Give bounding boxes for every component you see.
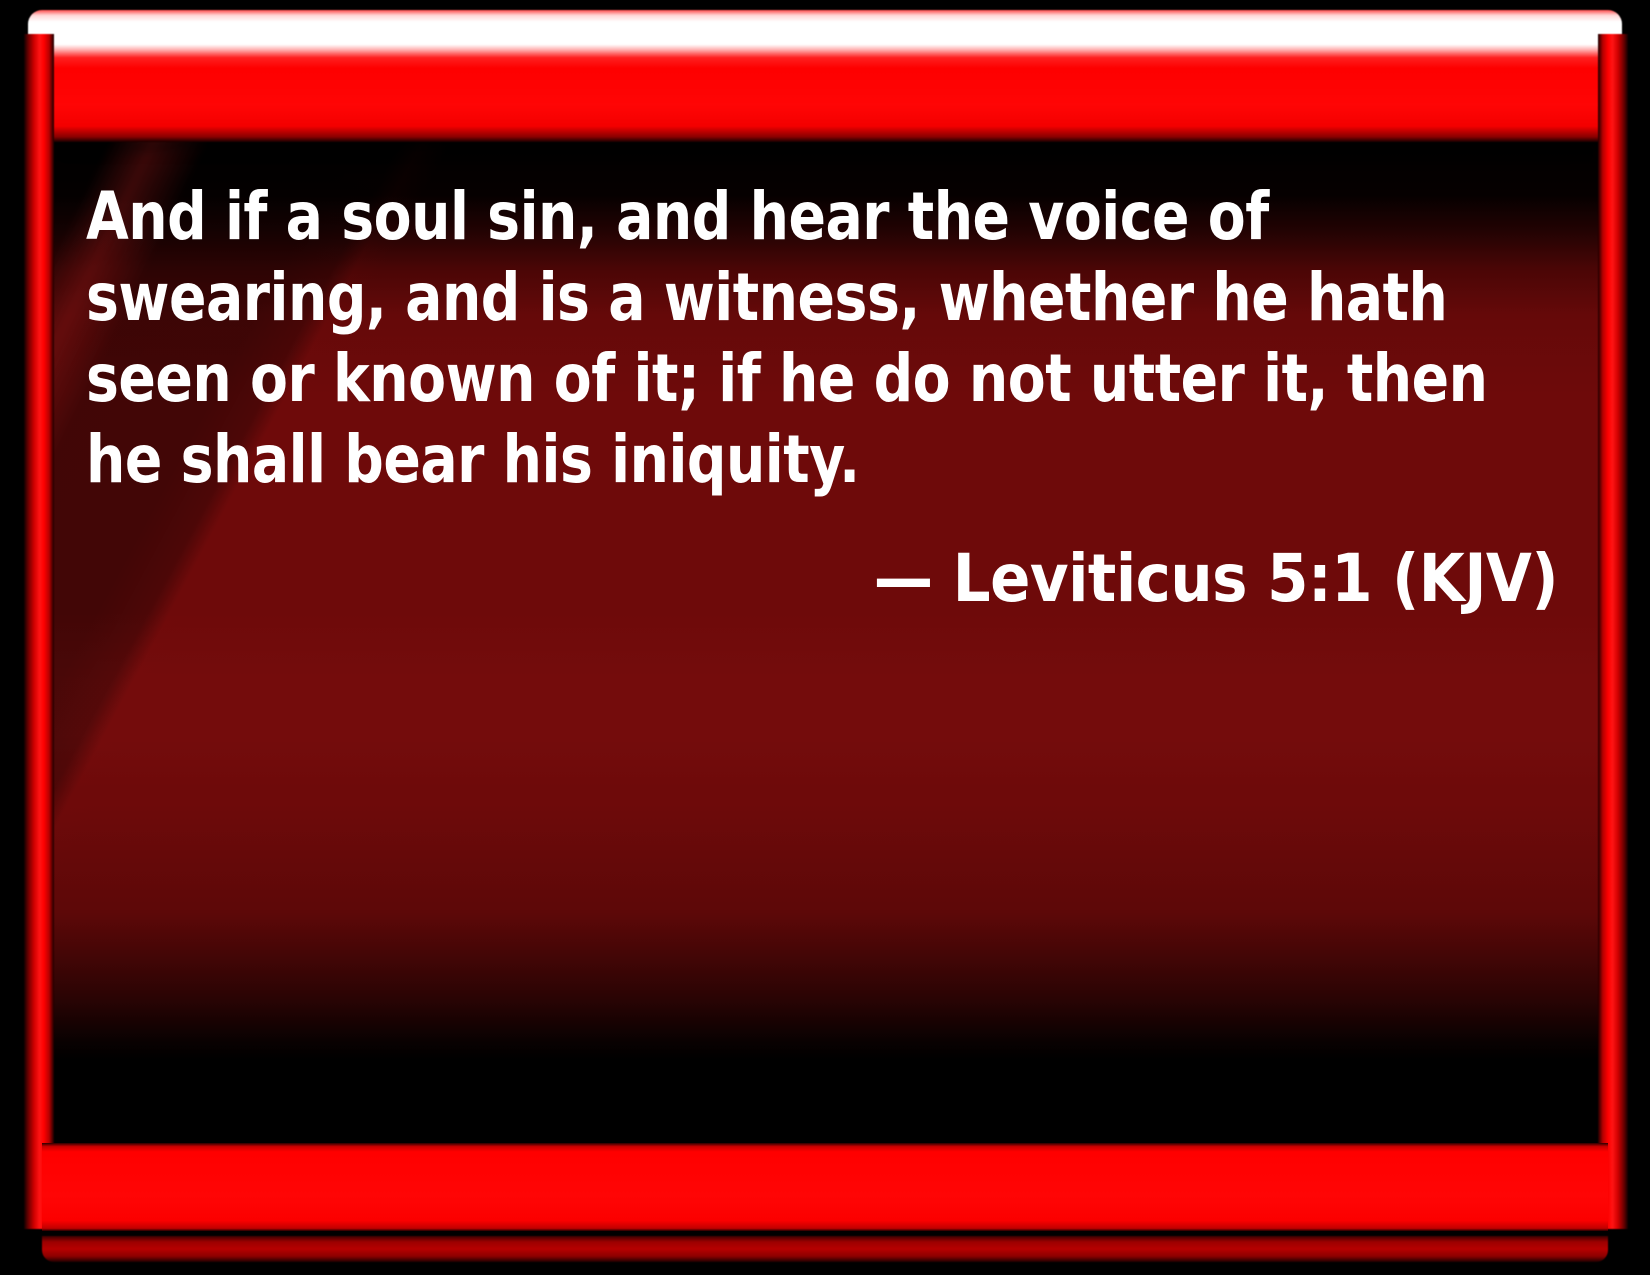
right-red-rail [1598,34,1628,1229]
bottom-red-band-lower [42,1236,1608,1262]
verse-line-1: And if a soul sin, and hear the voice of [86,176,1462,257]
left-red-rail [24,34,54,1229]
verse-slide: And if a soul sin, and hear the voice of… [0,0,1650,1275]
verse-line-2: swearing, and is a witness, whether he h… [86,257,1462,338]
bottom-red-band [42,1143,1608,1231]
top-red-band [28,10,1622,142]
panel-horizontal-band [48,610,1605,790]
verse-line-4: he shall bear his iniquity. [86,419,1462,500]
verse-text-block: And if a soul sin, and hear the voice of… [86,176,1566,619]
verse-line-3: seen or known of it; if he do not utter … [86,338,1462,419]
verse-attribution: — Leviticus 5:1 (KJV) [86,538,1566,619]
